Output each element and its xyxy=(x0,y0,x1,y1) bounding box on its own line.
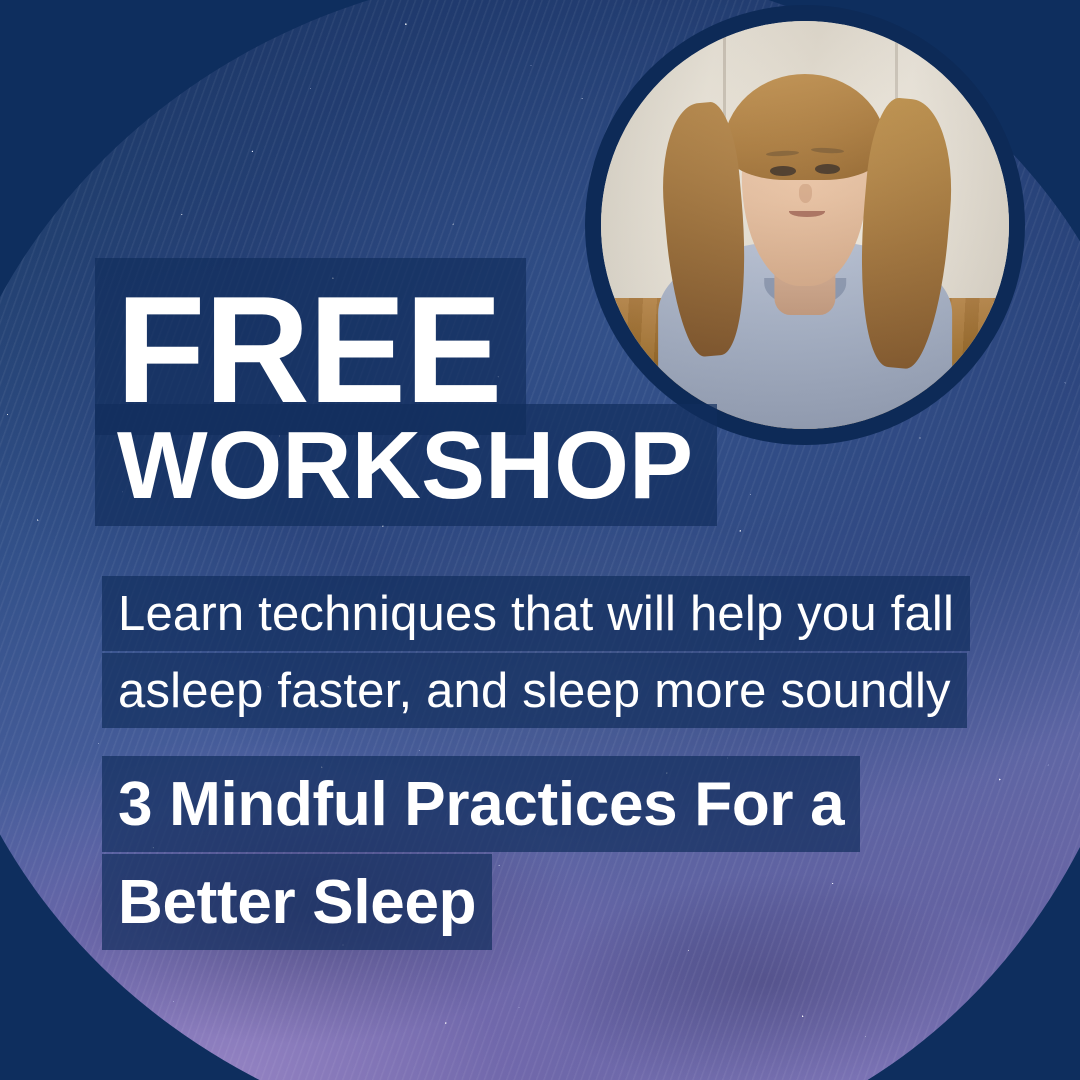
title-line-1: 3 Mindful Practices For a xyxy=(102,756,860,852)
subtitle-line-1: Learn techniques that will help you fall xyxy=(102,576,970,651)
title-line-2: Better Sleep xyxy=(102,854,492,950)
subtitle-line-1-row: Learn techniques that will help you fall xyxy=(102,576,1002,653)
title-line-1-row: 3 Mindful Practices For a xyxy=(102,756,1002,854)
title-block: 3 Mindful Practices For a Better Sleep xyxy=(102,756,1002,952)
title-line-2-row: Better Sleep xyxy=(102,854,1002,952)
promo-graphic-canvas: FREE WORKSHOP Learn techniques that will… xyxy=(0,0,1080,1080)
eyebrow-workshop: WORKSHOP xyxy=(95,404,717,526)
subtitle-line-2-row: asleep faster, and sleep more soundly xyxy=(102,653,1002,730)
subtitle-block: Learn techniques that will help you fall… xyxy=(102,576,1002,730)
text-layer: FREE WORKSHOP Learn techniques that will… xyxy=(0,0,1080,1080)
subtitle-line-2: asleep faster, and sleep more soundly xyxy=(102,653,967,728)
eyebrow-workshop-wrap: WORKSHOP xyxy=(95,404,717,526)
